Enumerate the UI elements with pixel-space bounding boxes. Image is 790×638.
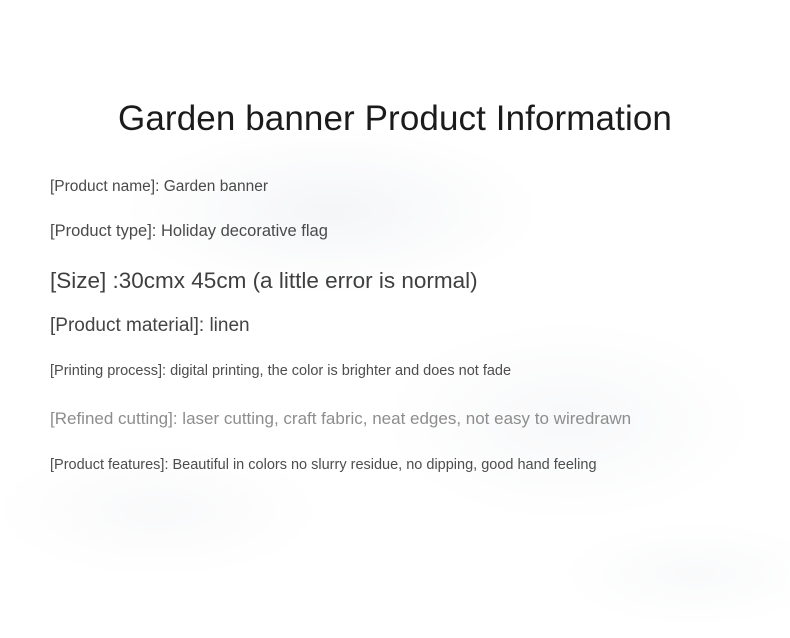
page-title: Garden banner Product Information bbox=[0, 97, 790, 141]
spec-row-printing-process: [Printing process]: digital printing, th… bbox=[50, 361, 750, 382]
product-spec-list: [Product name]: Garden banner [Product t… bbox=[50, 176, 750, 476]
spec-row-product-type: [Product type]: Holiday decorative flag bbox=[50, 220, 750, 243]
spec-row-size: [Size] :30cmx 45cm (a little error is no… bbox=[50, 266, 750, 296]
spec-row-product-features: [Product features]: Beautiful in colors … bbox=[50, 455, 750, 476]
spec-row-product-material: [Product material]: linen bbox=[50, 313, 750, 339]
spec-row-product-name: [Product name]: Garden banner bbox=[50, 176, 750, 198]
product-information-page: Garden banner Product Information [Produ… bbox=[0, 0, 790, 638]
spec-row-refined-cutting: [Refined cutting]: laser cutting, craft … bbox=[50, 407, 750, 431]
